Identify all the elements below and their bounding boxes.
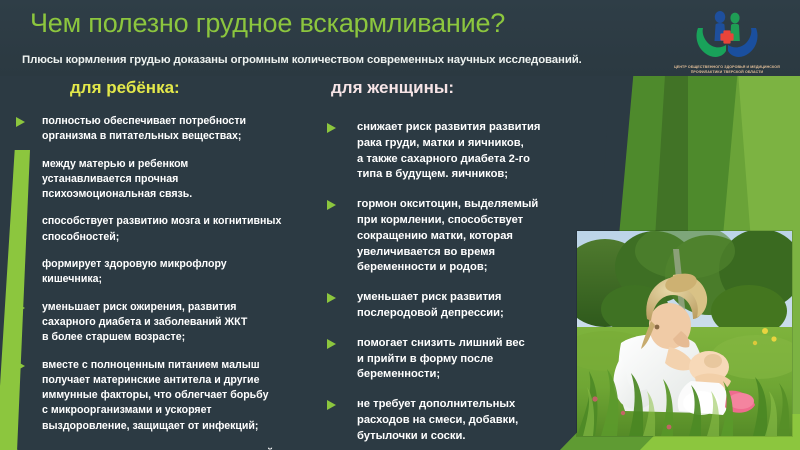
list-item: уменьшает риск ожирения, развития сахарн… bbox=[10, 300, 320, 346]
list-item-text: уменьшает риск ожирения, развития сахарн… bbox=[42, 300, 320, 346]
list-item-text: полностью обеспечивает потребности орган… bbox=[42, 114, 320, 145]
breastfeeding-mother-photo bbox=[577, 231, 792, 436]
bullet-arrow-icon bbox=[16, 217, 25, 227]
list-item: уменьшает вероятность развития аллергий. bbox=[10, 446, 320, 450]
benefits-list-woman: снижает риск развития развития рака груд… bbox=[325, 120, 570, 445]
slide-title: Чем полезно грудное вскармливание? bbox=[30, 8, 505, 39]
organization-logo: ЦЕНТР ОБЩЕСТВЕННОГО ЗДОРОВЬЯ И МЕДИЦИНСК… bbox=[672, 4, 782, 74]
bullet-arrow-icon bbox=[327, 339, 336, 349]
benefits-list-child: полностью обеспечивает потребности орган… bbox=[10, 114, 320, 450]
column-for-woman: для женщины: снижает риск развития разви… bbox=[325, 78, 570, 450]
list-item: вместе с полноценным питанием малыш полу… bbox=[10, 358, 320, 434]
bullet-arrow-icon bbox=[327, 123, 336, 133]
column-heading-child: для ребёнка: bbox=[10, 78, 320, 98]
bullet-arrow-icon bbox=[327, 400, 336, 410]
list-item-text: способствует развитию мозга и когнитивны… bbox=[42, 214, 320, 245]
list-item: формирует здоровую микрофлору кишечника; bbox=[10, 257, 320, 288]
bullet-arrow-icon bbox=[16, 303, 25, 313]
list-item-text: уменьшает риск развития послеродовой деп… bbox=[357, 290, 570, 322]
slide-root: Чем полезно грудное вскармливание? Плюсы… bbox=[0, 0, 800, 450]
list-item: способствует развитию мозга и когнитивны… bbox=[10, 214, 320, 245]
bullet-arrow-icon bbox=[16, 117, 25, 127]
list-item-text: уменьшает вероятность развития аллергий. bbox=[42, 446, 320, 450]
list-item-text: помогает снизить лишний вес и прийти в ф… bbox=[357, 336, 570, 383]
bullet-arrow-icon bbox=[16, 160, 25, 170]
slide-subtitle: Плюсы кормления грудью доказаны огромным… bbox=[22, 54, 582, 66]
list-item-text: между матерью и ребенком устанавливается… bbox=[42, 157, 320, 203]
list-item: полностью обеспечивает потребности орган… bbox=[10, 114, 320, 145]
logo-caption: ЦЕНТР ОБЩЕСТВЕННОГО ЗДОРОВЬЯ И МЕДИЦИНСК… bbox=[672, 65, 782, 74]
list-item: гормон окситоцин, выделяемый при кормлен… bbox=[325, 197, 570, 276]
list-item-text: не требует дополнительных расходов на см… bbox=[357, 397, 570, 444]
health-center-logo-icon bbox=[690, 4, 764, 64]
bullet-arrow-icon bbox=[16, 361, 25, 371]
list-item: снижает риск развития развития рака груд… bbox=[325, 120, 570, 183]
photo-illustration bbox=[577, 231, 792, 436]
list-item: уменьшает риск развития послеродовой деп… bbox=[325, 290, 570, 322]
list-item: не требует дополнительных расходов на см… bbox=[325, 397, 570, 444]
bullet-arrow-icon bbox=[327, 293, 336, 303]
bullet-arrow-icon bbox=[327, 200, 336, 210]
list-item-text: вместе с полноценным питанием малыш полу… bbox=[42, 358, 320, 434]
column-for-child: для ребёнка: полностью обеспечивает потр… bbox=[10, 78, 320, 450]
column-heading-woman: для женщины: bbox=[325, 78, 570, 98]
list-item-text: формирует здоровую микрофлору кишечника; bbox=[42, 257, 320, 288]
list-item-text: гормон окситоцин, выделяемый при кормлен… bbox=[357, 197, 570, 276]
list-item: между матерью и ребенком устанавливается… bbox=[10, 157, 320, 203]
list-item: помогает снизить лишний вес и прийти в ф… bbox=[325, 336, 570, 383]
list-item-text: снижает риск развития развития рака груд… bbox=[357, 120, 570, 183]
bullet-arrow-icon bbox=[16, 260, 25, 270]
